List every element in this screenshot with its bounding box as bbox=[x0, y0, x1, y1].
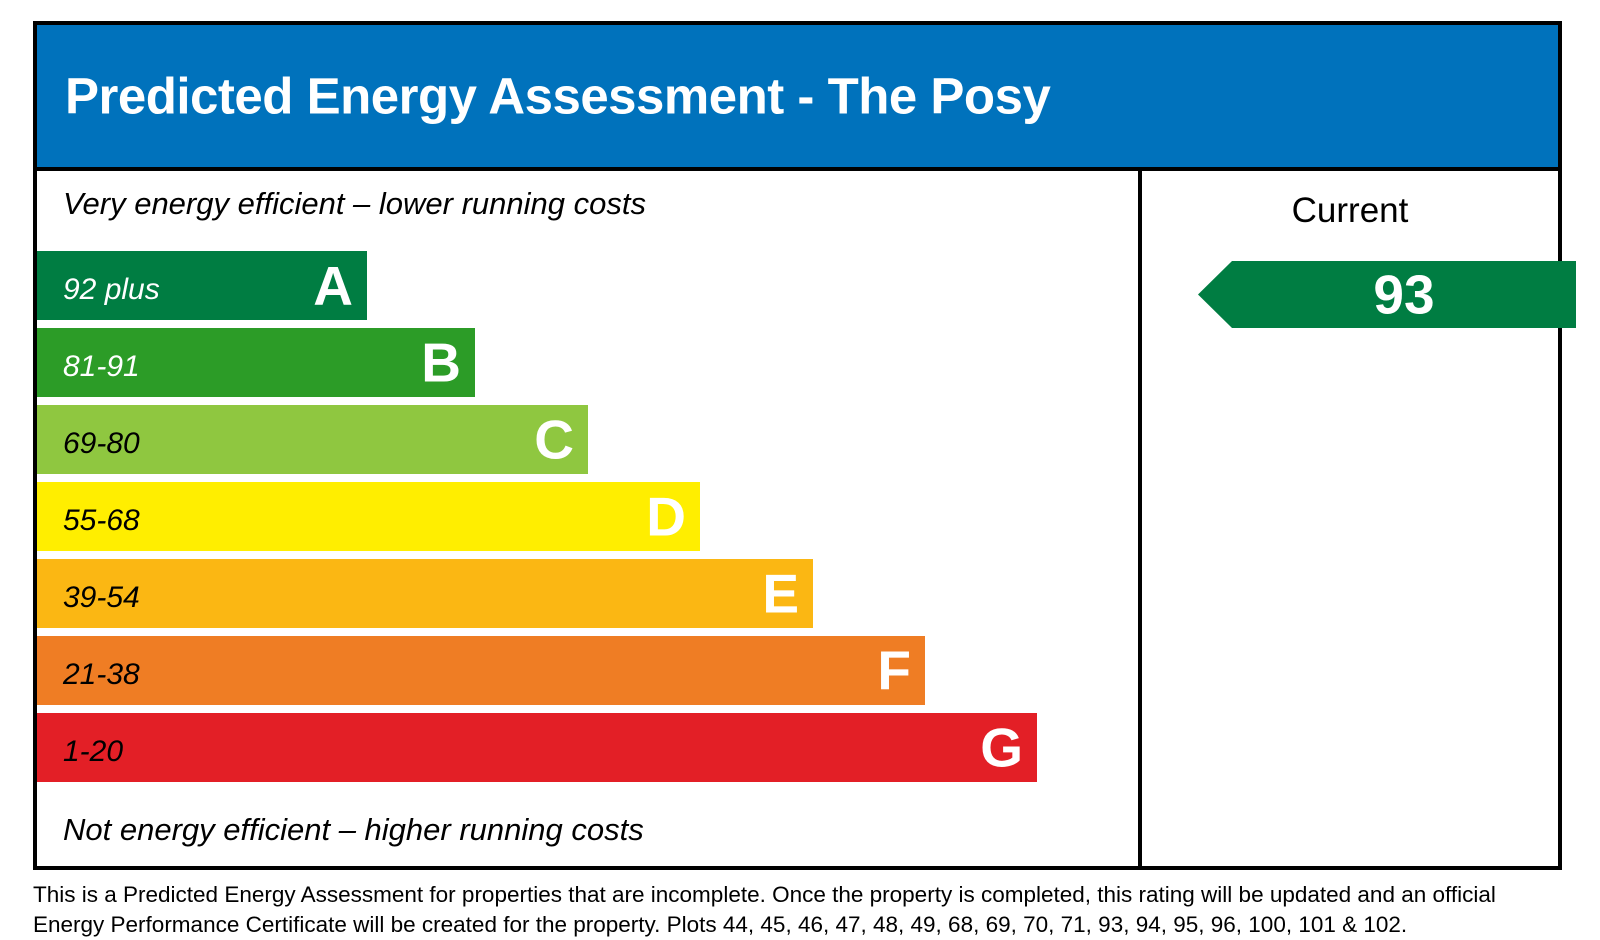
page-title: Predicted Energy Assessment - The Posy bbox=[65, 67, 1050, 126]
band-letter-e: E bbox=[762, 566, 799, 621]
band-letter-f: F bbox=[877, 643, 911, 698]
band-list: A 92 plus B 81-91 C 69-80 bbox=[37, 251, 1138, 790]
band-row: D 55-68 bbox=[37, 482, 1138, 559]
band-range-b: 81-91 bbox=[63, 350, 140, 384]
current-column-header: Current bbox=[1142, 191, 1558, 231]
current-rating-value: 93 bbox=[1198, 267, 1576, 322]
band-row: A 92 plus bbox=[37, 251, 1138, 328]
band-letter-c: C bbox=[534, 412, 574, 467]
band-range-c: 69-80 bbox=[63, 427, 140, 461]
band-bar-e: E bbox=[37, 559, 813, 628]
band-range-e: 39-54 bbox=[63, 581, 140, 615]
title-bar: Predicted Energy Assessment - The Posy bbox=[37, 25, 1558, 171]
band-bar-g: G bbox=[37, 713, 1037, 782]
current-rating-column: Current 93 bbox=[1142, 171, 1558, 866]
band-row: B 81-91 bbox=[37, 328, 1138, 405]
band-letter-b: B bbox=[421, 335, 461, 390]
band-letter-d: D bbox=[646, 489, 686, 544]
not-efficient-note: Not energy efficient – higher running co… bbox=[63, 812, 644, 848]
certificate-body: Very energy efficient – lower running co… bbox=[37, 171, 1558, 866]
band-range-a: 92 plus bbox=[63, 273, 160, 307]
band-range-g: 1-20 bbox=[63, 735, 123, 769]
band-row: G 1-20 bbox=[37, 713, 1138, 790]
band-bar-f: F bbox=[37, 636, 925, 705]
band-row: E 39-54 bbox=[37, 559, 1138, 636]
epc-certificate: Predicted Energy Assessment - The Posy V… bbox=[0, 0, 1600, 940]
footnote-text: This is a Predicted Energy Assessment fo… bbox=[33, 880, 1553, 940]
energy-bands-panel: Very energy efficient – lower running co… bbox=[37, 171, 1138, 866]
band-row: C 69-80 bbox=[37, 405, 1138, 482]
band-letter-g: G bbox=[980, 720, 1023, 775]
certificate-frame: Predicted Energy Assessment - The Posy V… bbox=[33, 21, 1562, 870]
band-row: F 21-38 bbox=[37, 636, 1138, 713]
very-efficient-note: Very energy efficient – lower running co… bbox=[63, 186, 646, 222]
band-letter-a: A bbox=[313, 258, 353, 313]
band-range-d: 55-68 bbox=[63, 504, 140, 538]
band-range-f: 21-38 bbox=[63, 658, 140, 692]
current-rating-arrow-icon: 93 bbox=[1198, 261, 1576, 328]
